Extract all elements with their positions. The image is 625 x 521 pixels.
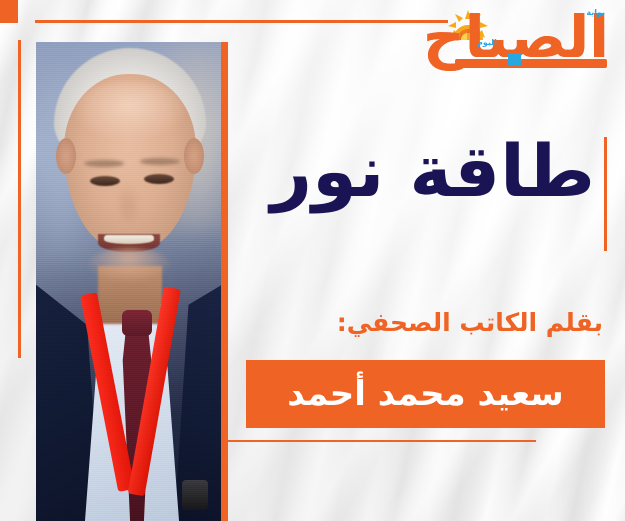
byline-label: بقلم الكاتب الصحفي: [183, 306, 603, 340]
masthead-logo[interactable]: الصباح بوابة اليوم [437, 4, 613, 78]
orange-title-rule [604, 137, 607, 251]
masthead-underline [455, 59, 607, 68]
masthead-tagline-mid: اليوم [477, 38, 497, 47]
author-name: سعيد محمد أحمد [287, 371, 563, 417]
author-name-bar: سعيد محمد أحمد [246, 360, 605, 428]
masthead-tagline-top: بوابة [586, 8, 605, 17]
orange-left-rule [18, 40, 21, 358]
orange-top-rule [35, 20, 448, 23]
article-header-poster: الصباح بوابة اليوم طاقة نور بقلم الكاتب … [0, 0, 625, 521]
page-title: طاقة نور [175, 112, 595, 230]
orange-square-decoration [0, 0, 18, 23]
orange-underline-rule [227, 440, 536, 442]
masthead-blue-dot [508, 53, 521, 66]
